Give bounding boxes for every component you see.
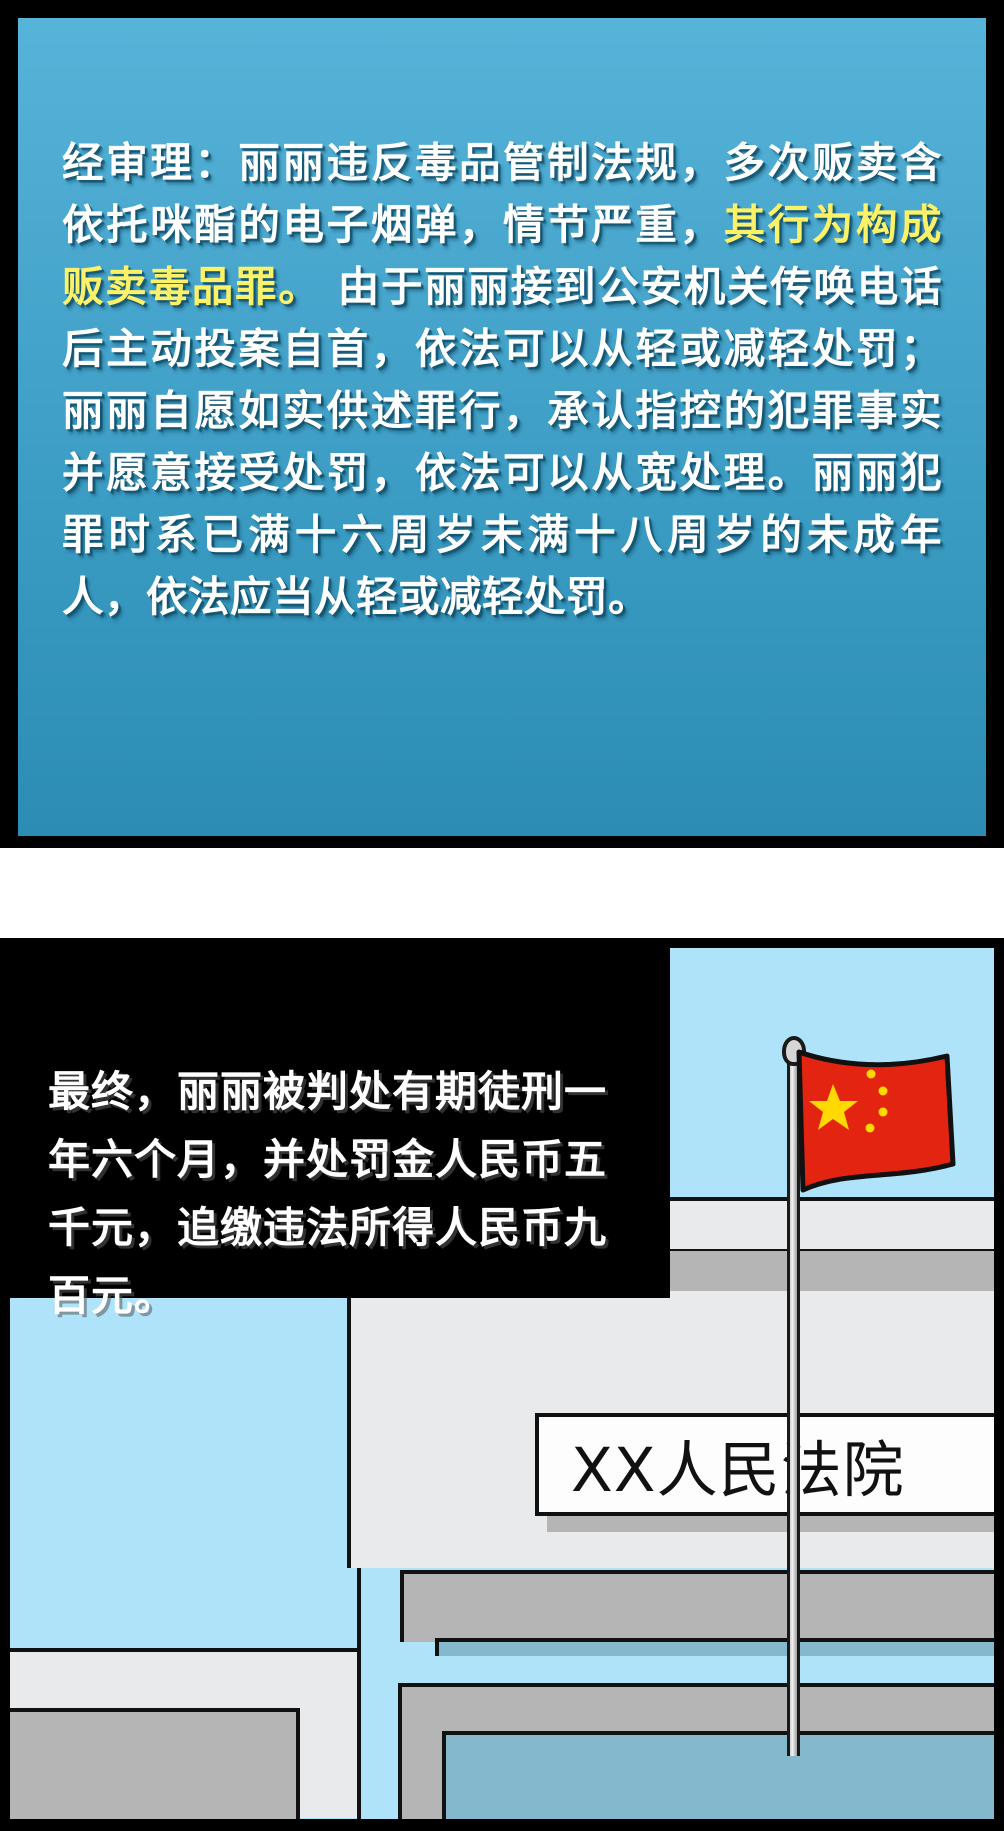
building-blue-step bbox=[435, 1638, 994, 1656]
verdict-panel-surface: XX人民法院 最终，丽丽被判处有期徒刑一年六个月，并处罚金人民币五千元，追缴违法… bbox=[10, 948, 994, 1819]
building-plinth bbox=[400, 1570, 994, 1642]
narration-paragraph: 经审理：丽丽违反毒品管制法规，多次贩卖含依托咪酯的电子烟弹，情节严重，其行为构成… bbox=[62, 132, 942, 628]
building-left-wing-base bbox=[10, 1708, 300, 1819]
narration-segment-3: 由于丽丽接到公安机关传唤电话后主动投案自首，依法可以从轻或减轻处罚；丽丽自愿如实… bbox=[62, 262, 942, 621]
narration-panel: 经审理：丽丽违反毒品管制法规，多次贩卖含依托咪酯的电子烟弹，情节严重，其行为构成… bbox=[0, 0, 1004, 848]
panel-divider-gap bbox=[0, 848, 1004, 938]
courthouse-sign-text: XX人民法院 bbox=[571, 1420, 905, 1509]
verdict-panel: XX人民法院 最终，丽丽被判处有期徒刑一年六个月，并处罚金人民币五千元，追缴违法… bbox=[0, 938, 1004, 1831]
verdict-caption-box: 最终，丽丽被判处有期徒刑一年六个月，并处罚金人民币五千元，追缴违法所得人民币九百… bbox=[10, 948, 670, 1298]
courthouse-sign: XX人民法院 bbox=[535, 1413, 994, 1516]
building-right-blue-base bbox=[442, 1731, 994, 1819]
narration-panel-surface: 经审理：丽丽违反毒品管制法规，多次贩卖含依托咪酯的电子烟弹，情节严重，其行为构成… bbox=[18, 18, 986, 836]
verdict-caption-text: 最终，丽丽被判处有期徒刑一年六个月，并处罚金人民币五千元，追缴违法所得人民币九百… bbox=[48, 1058, 630, 1330]
china-flag-icon bbox=[795, 1044, 970, 1234]
building-sign-shadow bbox=[547, 1516, 994, 1532]
building-seam-line bbox=[357, 1568, 361, 1819]
